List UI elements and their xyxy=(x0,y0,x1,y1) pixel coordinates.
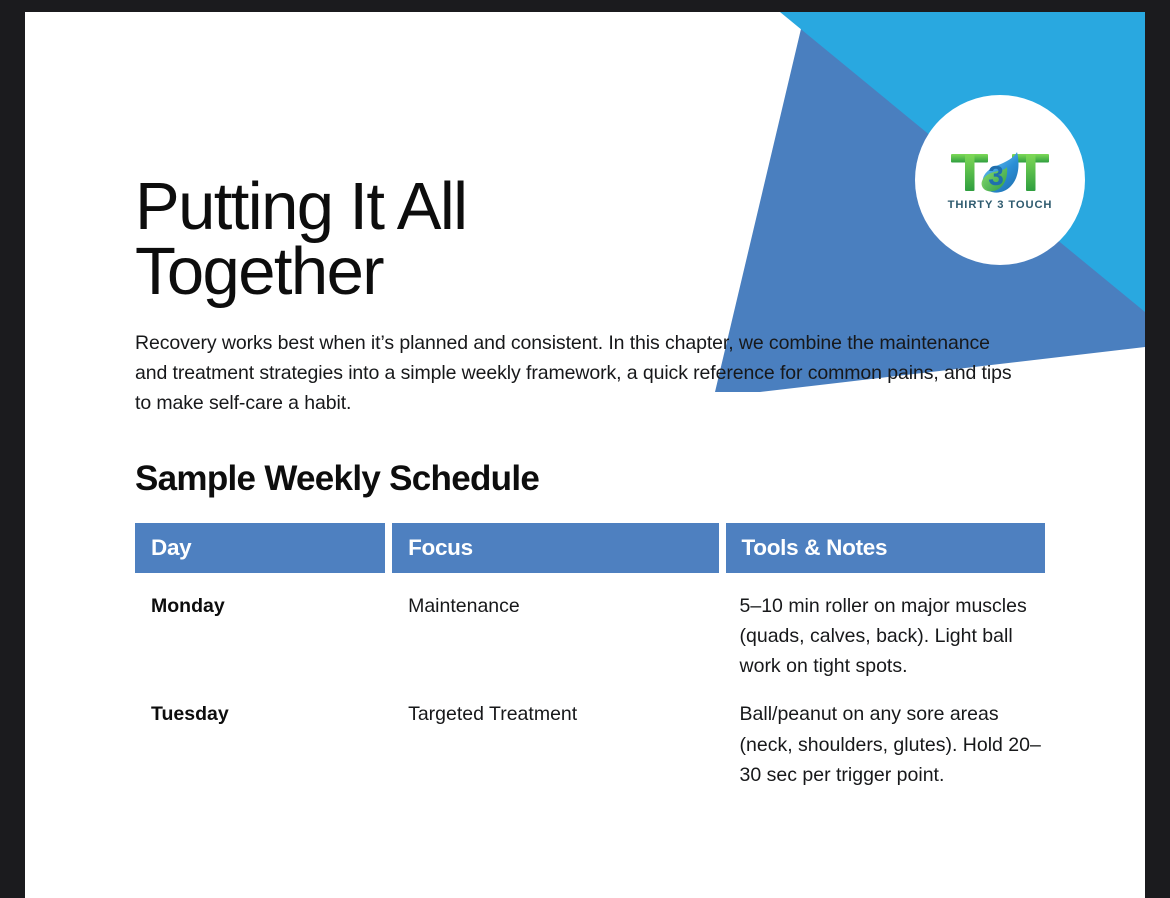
cell-day: Monday xyxy=(135,591,385,682)
document-page: 3 THIRTY 3 TOUCH Putting It All Together… xyxy=(25,12,1145,898)
weekly-schedule-table: Day Focus Tools & Notes Monday Maintenan… xyxy=(135,523,1045,790)
document-content: Putting It All Together Recovery works b… xyxy=(135,12,1055,790)
table-row: Tuesday Targeted Treatment Ball/peanut o… xyxy=(135,699,1045,790)
cell-day: Tuesday xyxy=(135,699,385,790)
intro-paragraph: Recovery works best when it’s planned an… xyxy=(135,328,1015,419)
page-title: Putting It All Together xyxy=(135,12,695,304)
column-header-day: Day xyxy=(135,523,385,573)
column-header-tools-notes: Tools & Notes xyxy=(726,523,1046,573)
cell-focus: Maintenance xyxy=(392,591,718,682)
table-row: Monday Maintenance 5–10 min roller on ma… xyxy=(135,591,1045,682)
screenshot-viewport: 3 THIRTY 3 TOUCH Putting It All Together… xyxy=(0,0,1170,898)
cell-tools-notes: 5–10 min roller on major muscles (quads,… xyxy=(726,591,1045,682)
cell-focus: Targeted Treatment xyxy=(392,699,718,790)
table-header-row: Day Focus Tools & Notes xyxy=(135,523,1045,573)
cell-tools-notes: Ball/peanut on any sore areas (neck, sho… xyxy=(726,699,1045,790)
column-header-focus: Focus xyxy=(392,523,718,573)
section-heading: Sample Weekly Schedule xyxy=(135,459,1055,499)
